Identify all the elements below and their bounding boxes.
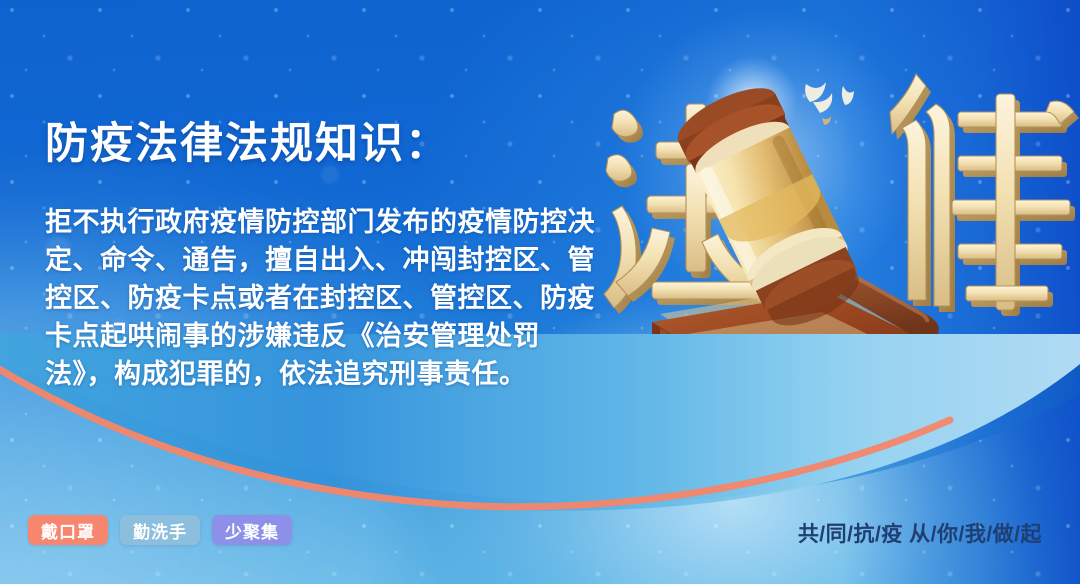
footer-slogan: 共/同/抗/疫 从/你/我/做/起 [798, 518, 1042, 548]
tag-wash-hands[interactable]: 勤洗手 [120, 515, 200, 545]
tag-wear-mask[interactable]: 戴口罩 [28, 515, 108, 545]
tag-avoid-gatherings[interactable]: 少聚集 [212, 515, 292, 545]
prevention-tag-list: 戴口罩 勤洗手 少聚集 [28, 515, 292, 545]
page-title: 防疫法律法规知识： [45, 120, 450, 169]
body-paragraph: 拒不执行政府疫情防控部门发布的疫情防控决定、命令、通告，擅自出入、冲闯封控区、管… [45, 203, 605, 393]
gold-character-lv [890, 74, 1079, 316]
poster-canvas: 防疫法律法规知识： 拒不执行政府疫情防控部门发布的疫情防控决定、命令、通告，擅自… [0, 0, 1080, 584]
